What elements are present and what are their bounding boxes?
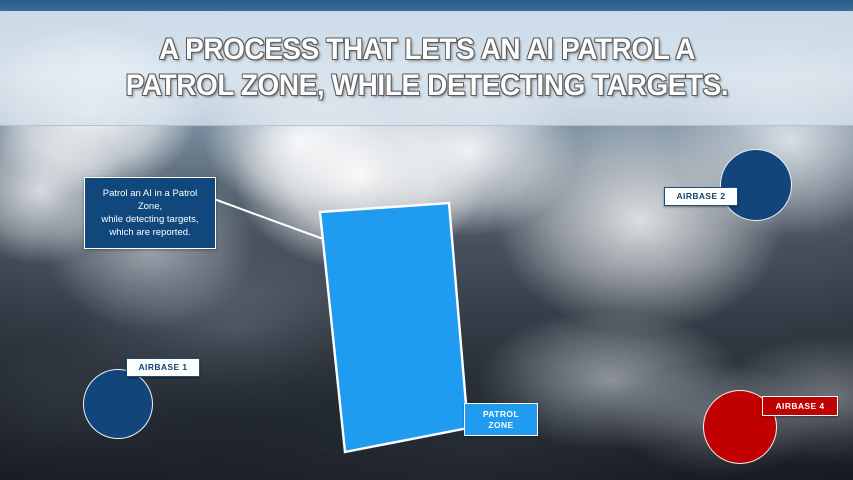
airbase-2-label[interactable]: AIRBASE 2: [664, 187, 738, 206]
airbase-1-circle[interactable]: [83, 369, 153, 439]
callout-leader-line: [214, 199, 326, 240]
callout-box[interactable]: Patrol an AI in a Patrol Zone, while det…: [84, 177, 216, 249]
airbase-2-label-text: AIRBASE 2: [677, 191, 726, 202]
patrol-zone-label[interactable]: PATROL ZONE: [464, 403, 538, 436]
airbase-1-label[interactable]: AIRBASE 1: [126, 358, 200, 377]
airbase-4-label[interactable]: AIRBASE 4: [762, 396, 838, 416]
airbase-2-circle[interactable]: [720, 149, 792, 221]
airbase-1-label-text: AIRBASE 1: [139, 362, 188, 373]
patrol-zone-polygon[interactable]: [320, 203, 468, 452]
presentation-slide: A PROCESS THAT LETS AN AI PATROL A PATRO…: [0, 0, 853, 480]
airbase-4-label-text: AIRBASE 4: [776, 401, 825, 412]
patrol-zone-label-text: PATROL ZONE: [483, 409, 519, 431]
callout-text: Patrol an AI in a Patrol Zone, while det…: [85, 187, 215, 239]
